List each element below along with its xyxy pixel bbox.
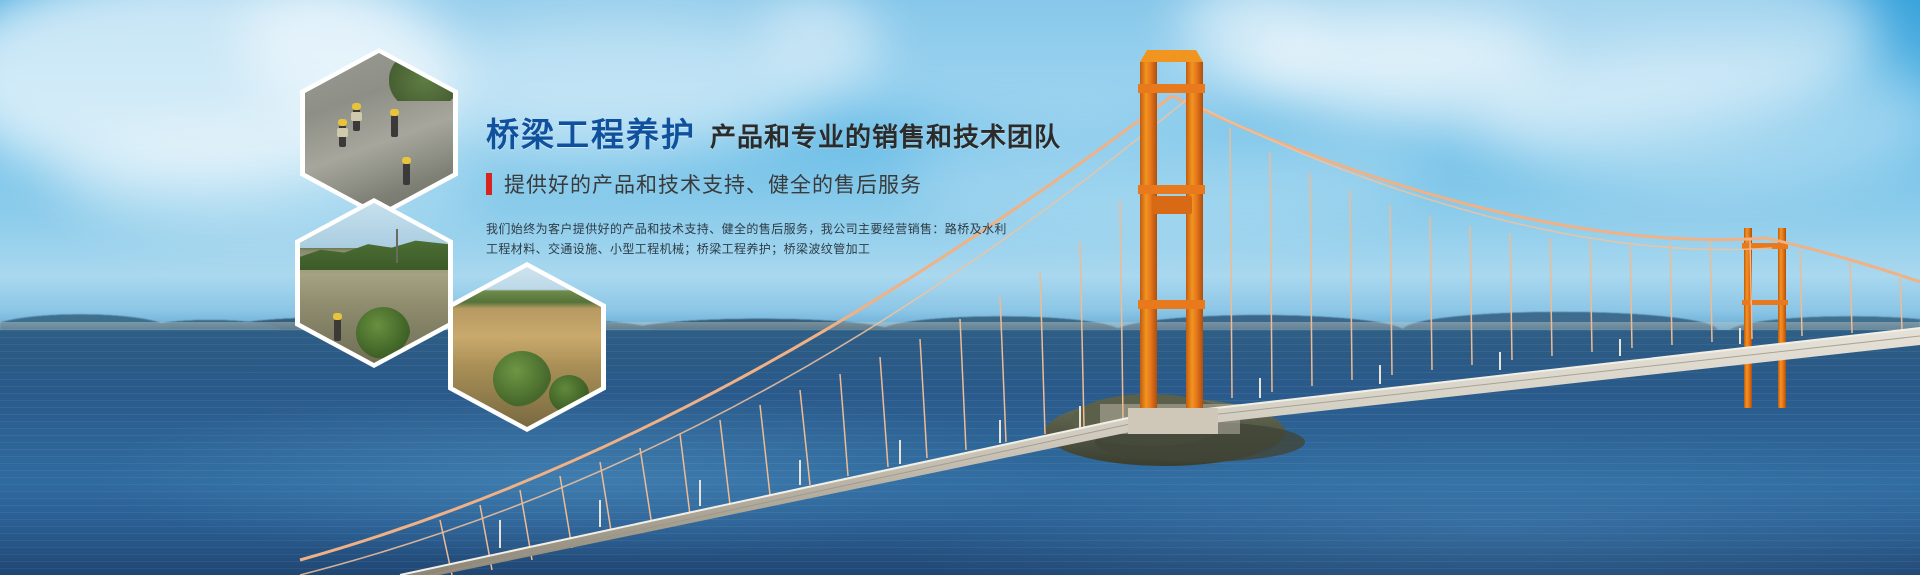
- headline-secondary: 产品和专业的销售和技术团队: [710, 124, 1061, 150]
- banner-copy: 桥梁工程养护 产品和专业的销售和技术团队 提供好的产品和技术支持、健全的售后服务…: [486, 118, 1046, 259]
- subheadline: 提供好的产品和技术支持、健全的售后服务: [486, 169, 1046, 199]
- sea-water: [0, 330, 1920, 575]
- cloud-shape: [1250, 10, 1550, 100]
- cloud-shape: [430, 20, 810, 130]
- hero-banner: 桥梁工程养护 产品和专业的销售和技术团队 提供好的产品和技术支持、健全的售后服务…: [0, 0, 1920, 575]
- description-line-1: 我们始终为客户提供好的产品和技术支持、健全的售后服务，我公司主要经营销售：路桥及…: [486, 219, 886, 239]
- red-accent-bar: [486, 173, 492, 195]
- headline: 桥梁工程养护 产品和专业的销售和技术团队: [486, 118, 1046, 151]
- description-line-2: 工程材料、交通设施、小型工程机械；桥梁工程养护；桥梁波纹管加工: [486, 239, 886, 259]
- subheadline-text: 提供好的产品和技术支持、健全的售后服务: [504, 169, 922, 199]
- headline-primary: 桥梁工程养护: [486, 118, 696, 151]
- description-paragraph: 我们始终为客户提供好的产品和技术支持、健全的售后服务，我公司主要经营销售：路桥及…: [486, 219, 886, 259]
